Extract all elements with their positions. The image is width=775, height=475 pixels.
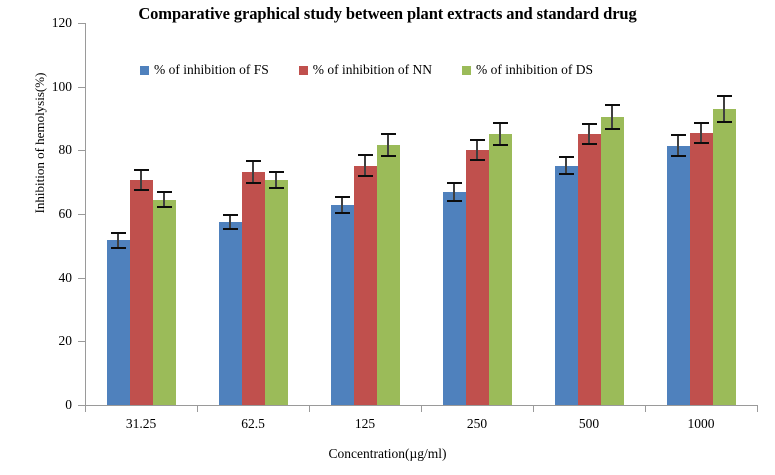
error-bar-cap-top (493, 122, 508, 124)
x-tick-label: 250 (421, 416, 533, 432)
x-tick-mark (757, 405, 758, 412)
y-tick-label: 120 (12, 16, 72, 30)
x-tick-label: 1000 (645, 416, 757, 432)
bar[interactable] (130, 180, 153, 405)
y-tick-label: 80 (12, 143, 72, 157)
bar[interactable] (466, 150, 489, 405)
bar[interactable] (107, 240, 130, 405)
x-tick-mark (197, 405, 198, 412)
error-bar-cap-top (717, 95, 732, 97)
error-bar-line (588, 123, 590, 145)
bar[interactable] (219, 222, 242, 405)
error-bar-cap-top (134, 169, 149, 171)
error-bar-line (499, 122, 501, 146)
error-bar-line (700, 122, 702, 144)
y-tick-mark (78, 150, 85, 151)
error-bar-cap-bottom (134, 189, 149, 191)
error-bar-cap-top (358, 154, 373, 156)
y-tick-label: 0 (12, 398, 72, 412)
y-tick-mark (78, 87, 85, 88)
error-bar-cap-bottom (335, 212, 350, 214)
x-tick-mark (309, 405, 310, 412)
error-bar-line (387, 133, 389, 157)
error-bar-line (252, 160, 254, 184)
plot-area (85, 23, 757, 405)
x-tick-label: 500 (533, 416, 645, 432)
error-bar-cap-top (559, 156, 574, 158)
error-bar-cap-top (694, 122, 709, 124)
bar[interactable] (578, 134, 601, 405)
x-tick-mark (421, 405, 422, 412)
y-tick-label: 60 (12, 207, 72, 221)
x-tick-mark (85, 405, 86, 412)
bar[interactable] (331, 205, 354, 405)
error-bar-cap-top (157, 191, 172, 193)
x-tick-mark (533, 405, 534, 412)
error-bar-cap-bottom (381, 155, 396, 157)
error-bar-line (723, 95, 725, 124)
y-tick-label: 100 (12, 80, 72, 94)
bar[interactable] (153, 200, 176, 405)
bar[interactable] (354, 166, 377, 405)
error-bar-line (611, 104, 613, 130)
bar[interactable] (377, 145, 400, 405)
error-bar-cap-bottom (447, 200, 462, 202)
error-bar-cap-top (111, 232, 126, 234)
x-tick-label: 31.25 (85, 416, 197, 432)
error-bar-cap-top (335, 196, 350, 198)
error-bar-cap-top (447, 182, 462, 184)
error-bar-cap-bottom (223, 228, 238, 230)
error-bar-cap-top (605, 104, 620, 106)
error-bar-cap-top (671, 134, 686, 136)
bar[interactable] (667, 146, 690, 405)
error-bar-cap-top (246, 160, 261, 162)
error-bar-cap-top (223, 214, 238, 216)
y-tick-label: 40 (12, 271, 72, 285)
error-bar-cap-bottom (559, 173, 574, 175)
bar[interactable] (489, 134, 512, 405)
error-bar-cap-bottom (694, 142, 709, 144)
error-bar-line (364, 154, 366, 177)
error-bar-cap-bottom (358, 175, 373, 177)
chart-title: Comparative graphical study between plan… (0, 4, 775, 24)
x-tick-label: 62.5 (197, 416, 309, 432)
error-bar-cap-bottom (111, 247, 126, 249)
error-bar-cap-bottom (246, 182, 261, 184)
y-tick-mark (78, 278, 85, 279)
x-tick-label: 125 (309, 416, 421, 432)
x-tick-mark (645, 405, 646, 412)
error-bar-cap-bottom (493, 144, 508, 146)
bar[interactable] (443, 192, 466, 405)
x-axis-title: Concentration(µg/ml) (0, 446, 775, 462)
y-tick-mark (78, 405, 85, 406)
chart-container: Comparative graphical study between plan… (0, 0, 775, 475)
error-bar-line (476, 139, 478, 161)
bar[interactable] (242, 172, 265, 405)
error-bar-cap-bottom (605, 128, 620, 130)
error-bar-cap-bottom (269, 187, 284, 189)
bar[interactable] (555, 166, 578, 405)
y-tick-mark (78, 23, 85, 24)
error-bar-cap-bottom (157, 206, 172, 208)
bar[interactable] (601, 117, 624, 405)
error-bar-cap-top (582, 123, 597, 125)
bar[interactable] (713, 109, 736, 405)
error-bar-cap-top (269, 171, 284, 173)
error-bar-line (140, 169, 142, 191)
y-tick-label: 20 (12, 334, 72, 348)
error-bar-cap-bottom (470, 159, 485, 161)
y-tick-mark (78, 341, 85, 342)
error-bar-cap-bottom (582, 143, 597, 145)
error-bar-line (677, 134, 679, 157)
error-bar-cap-bottom (671, 155, 686, 157)
bar[interactable] (265, 180, 288, 405)
bar[interactable] (690, 133, 713, 405)
error-bar-cap-bottom (717, 121, 732, 123)
error-bar-cap-top (470, 139, 485, 141)
error-bar-cap-top (381, 133, 396, 135)
y-tick-mark (78, 214, 85, 215)
